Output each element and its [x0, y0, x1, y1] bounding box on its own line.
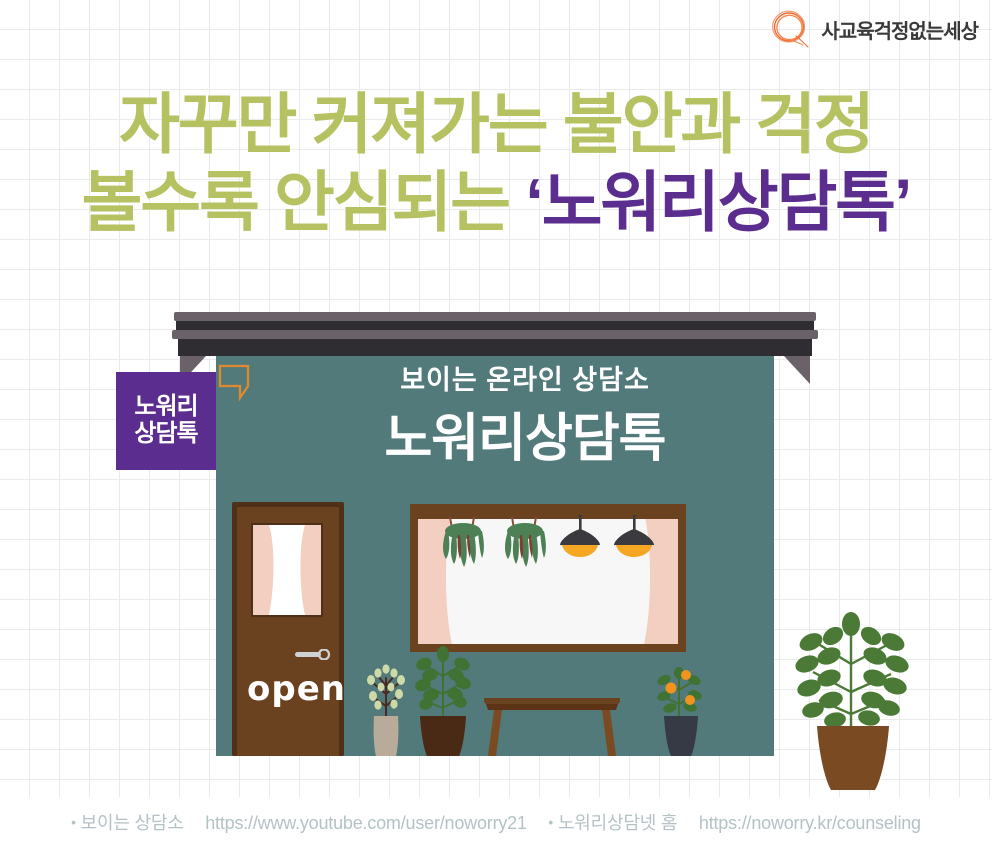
footer-item-1-label: 보이는 상담소 [81, 813, 184, 833]
awning-brace-right [784, 356, 810, 384]
window-interior [418, 512, 678, 644]
poster-canvas: 사교육걱정없는세상 자꾸만 커져가는 불안과 걱정 볼수록 안심되는 ‘노워리상… [0, 0, 992, 849]
speech-bubble-tail-icon [218, 364, 252, 404]
headline-line-2: 볼수록 안심되는 ‘노워리상담톡’ [0, 164, 992, 242]
awning-top-band [174, 312, 816, 321]
footer-bullet-1: • [71, 814, 76, 830]
door-curtain-icon [253, 525, 321, 615]
awning-mid-band [172, 330, 818, 339]
footer-bullet-2: • [548, 814, 553, 830]
footer-item-2-label: 노워리상담넷 홈 [558, 813, 677, 833]
pendant-lamp-left-icon [554, 515, 606, 563]
awning-dark-band-2 [178, 339, 812, 356]
sign-subtitle: 보이는 온라인 상담소 [216, 358, 774, 397]
headline-line-1: 자꾸만 커져가는 불안과 걱정 [0, 86, 992, 164]
headline-line-2-quoted: ‘노워리상담톡’ [525, 165, 910, 239]
vase-branch-plant-icon [360, 660, 412, 758]
awning-dark-band-1 [176, 321, 814, 330]
footer-links: • 보이는 상담소 https://www.youtube.com/user/n… [0, 809, 992, 835]
hanging-plant-right-icon [496, 517, 558, 569]
pendant-lamp-right-icon [608, 515, 660, 563]
orange-fruit-plant-icon [648, 666, 710, 758]
door-handle-icon[interactable] [295, 647, 331, 658]
shop-door[interactable]: open [232, 502, 344, 756]
footer-item-2-url[interactable]: https://noworry.kr/counseling [699, 813, 921, 833]
door-window-frame [251, 523, 323, 617]
storefront-illustration: 보이는 온라인 상담소 노워리상담톡 노워리 상담톡 [170, 312, 820, 792]
headline-line-2-prefix: 볼수록 안심되는 [82, 165, 526, 239]
hanging-plant-left-icon [434, 517, 496, 569]
door-panel: open [237, 507, 339, 756]
potted-leafy-plant-icon [410, 642, 476, 758]
orange-circle-scribble-logo-icon [767, 6, 813, 52]
door-open-label: open [247, 669, 339, 709]
badge-line-2: 상담톡 [134, 421, 197, 448]
footer-item-1-url[interactable]: https://www.youtube.com/user/noworry21 [205, 813, 527, 833]
noworry-badge: 노워리 상담톡 [116, 372, 216, 470]
shop-window [410, 504, 686, 652]
wooden-bench-icon [482, 694, 622, 758]
door-window [253, 525, 321, 615]
brand-name: 사교육걱정없는세상 [821, 15, 978, 44]
large-zz-plant-icon [785, 608, 920, 794]
sign-title: 노워리상담톡 [216, 396, 774, 471]
headline: 자꾸만 커져가는 불안과 걱정 볼수록 안심되는 ‘노워리상담톡’ [0, 86, 992, 242]
badge-line-1: 노워리 [134, 394, 197, 421]
brand-logo: 사교육걱정없는세상 [767, 6, 978, 52]
